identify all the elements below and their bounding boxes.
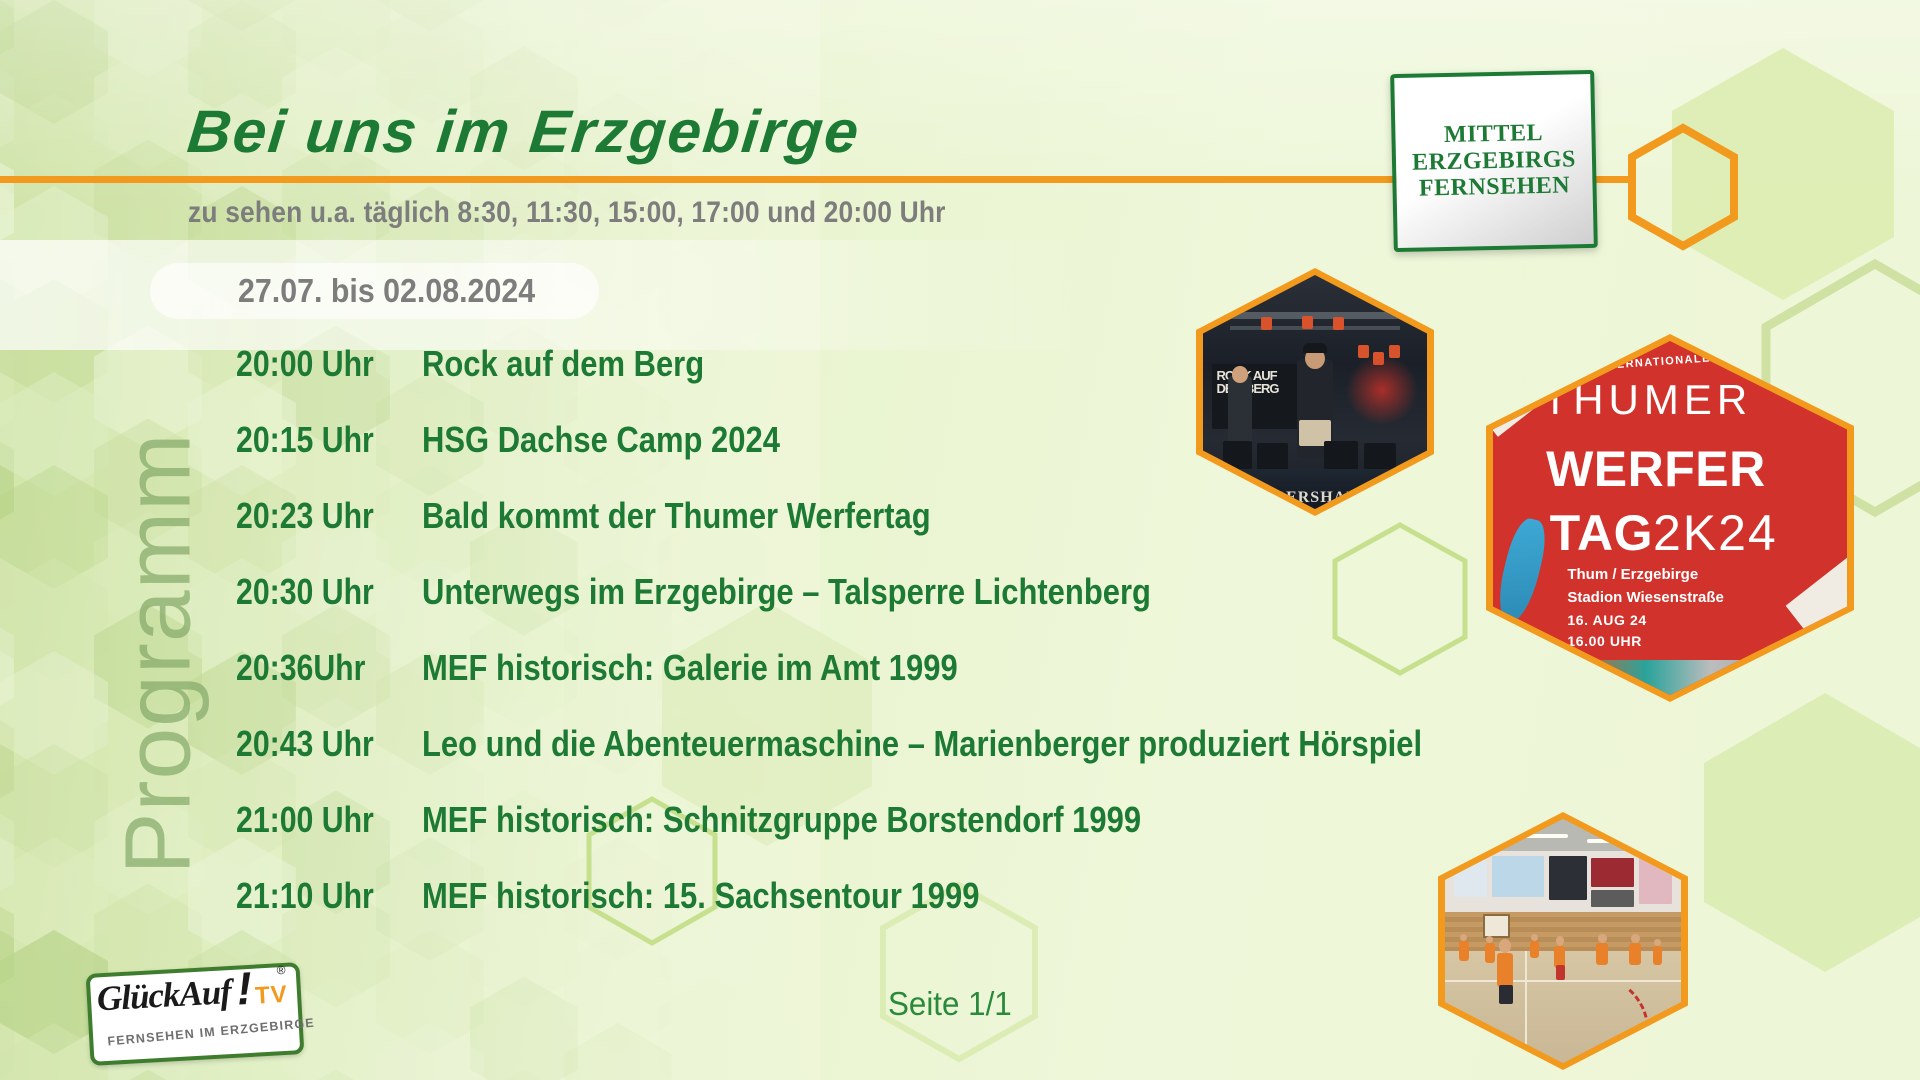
honeycomb-cell [0,465,108,589]
registered-trademark-icon: ® [276,963,286,977]
schedule-program-name: HSG Dachse Camp 2024 [422,419,780,461]
schedule-time: 21:10 Uhr [236,875,392,917]
honeycomb-cell [376,1023,484,1080]
table-row: 20:00 Uhr Rock auf dem Berg [236,343,1766,419]
honeycomb-cell [0,744,108,868]
honeycomb-cell [0,977,14,1080]
mef-logo-line-1: MITTEL [1444,120,1544,149]
page-indicator: Seite 1/1 [888,985,1012,1023]
honeycomb-cell [94,0,202,78]
schedule-program-name: MEF historisch: Galerie im Amt 1999 [422,647,958,689]
schedule-time: 20:30 Uhr [236,571,392,613]
honeycomb-cell [0,279,108,403]
schedule-program-name: MEF historisch: 15. Sachsentour 1999 [422,875,979,917]
schedule-time: 20:00 Uhr [236,343,392,385]
honeycomb-cell [0,558,108,682]
mef-logo-line-3: FERNSEHEN [1419,173,1571,203]
honeycomb-cell [0,326,14,450]
honeycomb-cell [0,0,108,31]
decor-hexagon-orange [1627,123,1739,251]
honeycomb-cell [0,372,108,496]
honeycomb-cell [0,1070,14,1080]
page-title: Bei uns im Erzgebirge [184,97,863,166]
schedule-list: 20:00 Uhr Rock auf dem Berg 20:15 Uhr HS… [236,343,1766,951]
honeycomb-cell [0,0,108,124]
honeycomb-cell [0,791,14,915]
honeycomb-cell [0,186,108,310]
honeycomb-cell [0,512,14,636]
table-row: 20:30 Uhr Unterwegs im Erzgebirge – Tals… [236,571,1766,647]
honeycomb-cell [658,977,766,1080]
table-row: 20:23 Uhr Bald kommt der Thumer Werferta… [236,495,1766,571]
glueckauf-tv-label: TV [254,981,288,1011]
glueckauf-wordmark: GlückAuf [96,972,232,1019]
honeycomb-cell [658,233,766,357]
table-row: 21:10 Uhr MEF historisch: 15. Sachsentou… [236,875,1766,951]
mef-logo: MITTEL ERZGEBIRGS FERNSEHEN [1390,70,1598,252]
schedule-time: 21:00 Uhr [236,799,392,841]
table-row: 20:43 Uhr Leo und die Abenteuermaschine … [236,723,1766,799]
glueckauf-exclamation: ! [235,961,253,1016]
honeycomb-cell [0,0,14,78]
schedule-program-name: MEF historisch: Schnitzgruppe Borstendor… [422,799,1141,841]
broadcast-times-subtitle: zu sehen u.a. täglich 8:30, 11:30, 15:00… [188,196,946,230]
table-row: 20:36Uhr MEF historisch: Galerie im Amt … [236,647,1766,723]
glueckauf-tv-logo: GlückAuf ! ® TV FERNSEHEN IM ERZGEBIRGE [86,962,305,1066]
date-range-text: 27.07. bis 02.08.2024 [238,272,535,310]
honeycomb-cell [0,47,14,171]
schedule-time: 20:15 Uhr [236,419,392,461]
header-orange-rule [0,176,1438,183]
table-row: 21:00 Uhr MEF historisch: Schnitzgruppe … [236,799,1766,875]
honeycomb-cell [376,0,484,31]
honeycomb-cell [0,140,14,264]
honeycomb-cell [0,419,14,543]
vertical-section-label: Programm [105,324,212,984]
honeycomb-cell [282,1070,390,1080]
honeycomb-cell [188,0,296,31]
honeycomb-cell [0,605,14,729]
date-range-badge: 27.07. bis 02.08.2024 [150,263,599,319]
honeycomb-cell [0,233,14,357]
honeycomb-cell [470,0,578,78]
honeycomb-cell [564,0,672,31]
honeycomb-cell [0,884,14,1008]
honeycomb-cell [282,0,390,78]
honeycomb-cell [470,977,578,1080]
honeycomb-cell [0,837,108,961]
honeycomb-cell [564,1023,672,1080]
schedule-program-name: Unterwegs im Erzgebirge – Talsperre Lich… [422,571,1151,613]
honeycomb-cell [0,698,14,822]
table-row: 20:15 Uhr HSG Dachse Camp 2024 [236,419,1766,495]
decor-hexagon-filled-1 [1668,44,1898,304]
honeycomb-cell [470,1070,578,1080]
schedule-time: 20:36Uhr [236,647,392,689]
honeycomb-cell [94,1070,202,1080]
schedule-time: 20:43 Uhr [236,723,392,765]
honeycomb-cell [0,651,108,775]
honeycomb-cell [0,93,108,217]
honeycomb-cell [658,1070,766,1080]
honeycomb-cell [658,0,766,78]
mef-logo-line-2: ERZGEBIRGS [1412,146,1576,176]
schedule-program-name: Leo und die Abenteuermaschine – Marienbe… [422,723,1422,765]
program-slide: Bei uns im Erzgebirge zu sehen u.a. tägl… [0,0,1920,1080]
schedule-time: 20:23 Uhr [236,495,392,537]
schedule-program-name: Bald kommt der Thumer Werfertag [422,495,931,537]
schedule-program-name: Rock auf dem Berg [422,343,704,385]
